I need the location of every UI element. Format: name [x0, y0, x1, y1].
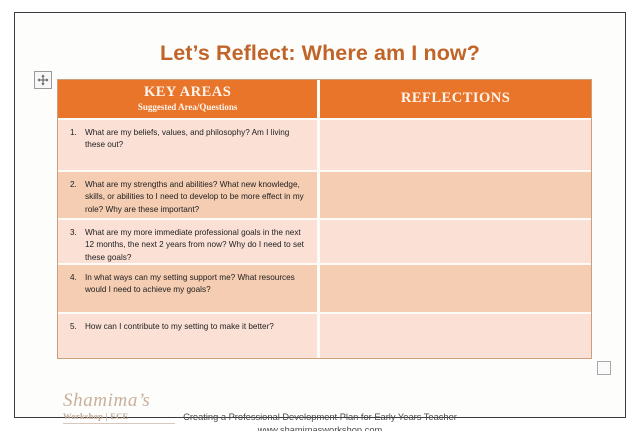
question-text: How can I contribute to my setting to ma… — [85, 321, 309, 333]
reflection-cell[interactable] — [320, 314, 591, 358]
question-cell[interactable]: 5. How can I contribute to my setting to… — [58, 314, 320, 358]
footer-caption-text: Creating a Professional Development Plan… — [183, 412, 457, 422]
question-cell[interactable]: 3. What are my more immediate profession… — [58, 220, 320, 263]
reflection-cell[interactable] — [320, 220, 591, 263]
question-text: What are my strengths and abilities? Wha… — [85, 179, 309, 215]
move-cross-icon[interactable] — [34, 71, 52, 89]
footer-url-text: www.shamimasworkshop.com — [15, 424, 625, 431]
logo-script-text: Shamima’s — [63, 391, 188, 410]
question-cell[interactable]: 2. What are my strengths and abilities? … — [58, 172, 320, 218]
table-row[interactable]: 1. What are my beliefs, values, and phil… — [58, 120, 591, 172]
question-text: In what ways can my setting support me? … — [85, 272, 309, 296]
resize-handle-icon[interactable] — [597, 361, 611, 375]
reflection-table[interactable]: KEY AREAS Suggested Area/Questions REFLE… — [57, 79, 592, 359]
question-cell[interactable]: 4. In what ways can my setting support m… — [58, 265, 320, 312]
page-title: Let’s Reflect: Where am I now? — [15, 41, 625, 66]
header-cell-key-areas: KEY AREAS Suggested Area/Questions — [58, 80, 320, 118]
question-number: 2. — [68, 179, 85, 191]
table-row[interactable]: 2. What are my strengths and abilities? … — [58, 172, 591, 220]
question-number: 4. — [68, 272, 85, 284]
reflection-cell[interactable] — [320, 120, 591, 170]
question-number: 5. — [68, 321, 85, 333]
table-header-row: KEY AREAS Suggested Area/Questions REFLE… — [58, 80, 591, 120]
question-number: 3. — [68, 227, 85, 239]
question-text: What are my more immediate professional … — [85, 227, 309, 263]
question-number: 1. — [68, 127, 85, 139]
table-row[interactable]: 3. What are my more immediate profession… — [58, 220, 591, 265]
question-text: What are my beliefs, values, and philoso… — [85, 127, 309, 151]
header-key-areas-title: KEY AREAS — [144, 85, 231, 101]
footer-caption: Creating a Professional Development Plan… — [15, 411, 625, 431]
question-cell[interactable]: 1. What are my beliefs, values, and phil… — [58, 120, 320, 170]
header-key-areas-subtitle: Suggested Area/Questions — [138, 102, 238, 112]
slide-frame: Let’s Reflect: Where am I now? KEY AREAS — [14, 12, 626, 418]
reflection-cell[interactable] — [320, 265, 591, 312]
table-row[interactable]: 5. How can I contribute to my setting to… — [58, 314, 591, 358]
header-reflections-title: REFLECTIONS — [401, 91, 510, 107]
header-cell-reflections: REFLECTIONS — [320, 80, 591, 118]
slide-canvas[interactable]: Let’s Reflect: Where am I now? KEY AREAS — [15, 13, 625, 417]
table-row[interactable]: 4. In what ways can my setting support m… — [58, 265, 591, 314]
reflection-cell[interactable] — [320, 172, 591, 218]
